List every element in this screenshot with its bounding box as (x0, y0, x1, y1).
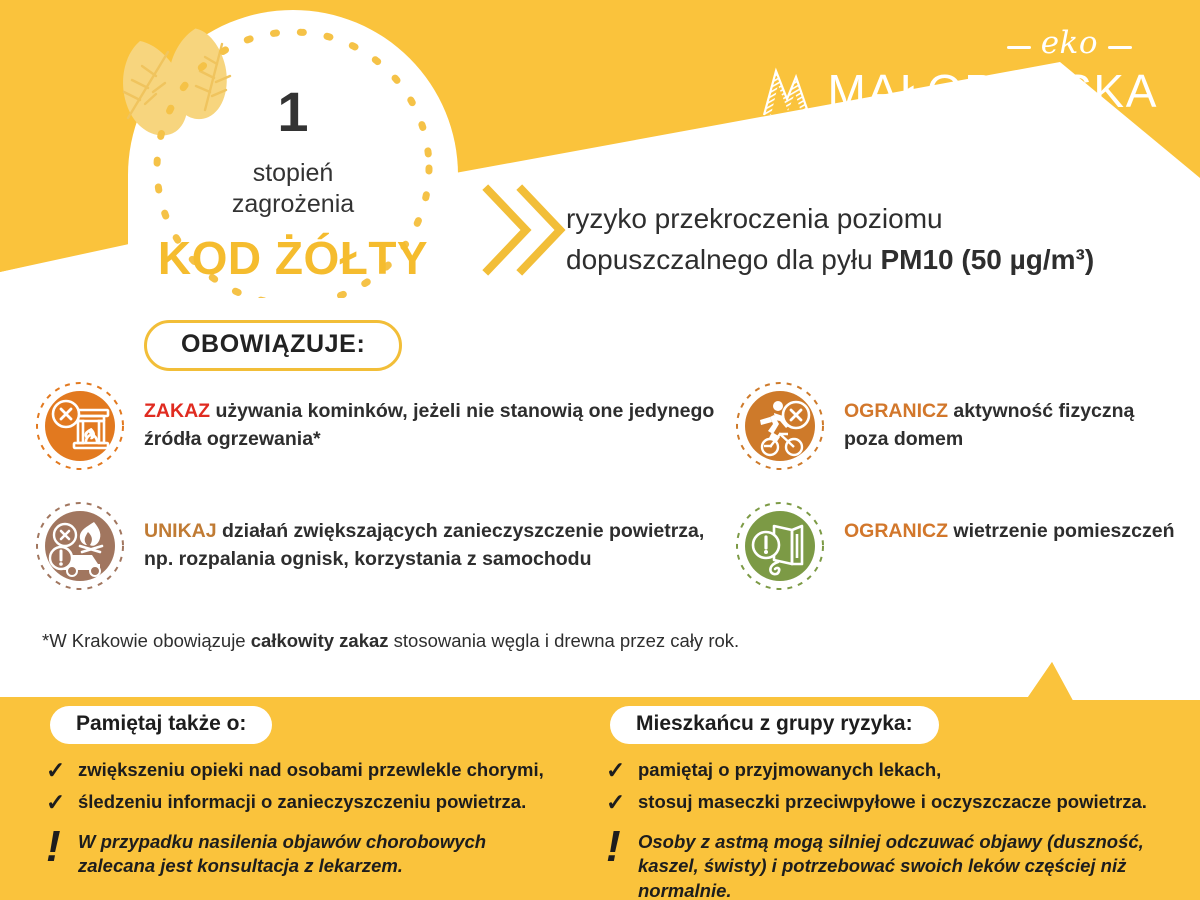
danger-level-badge: 1 stopień zagrożenia KOD ŻÓŁTY (133, 22, 453, 298)
advice-item-bonfire-car: UNIKAJ działań zwiększających zanieczysz… (36, 502, 736, 622)
panel-risk-group-title: Mieszkańcu z grupy ryzyka: (610, 706, 939, 744)
advice-grid: ZAKAZ używania kominków, jeżeli nie stan… (36, 382, 1176, 622)
advice-text-window: OGRANICZ wietrzenie pomieszczeń (844, 502, 1175, 546)
list-item: ✓ zwiększeniu opieki nad osobami przewle… (46, 758, 560, 783)
list-item-label: śledzeniu informacji o zanieczyszczeniu … (78, 790, 526, 813)
bonfire-car-warning-icon (36, 502, 124, 590)
advice-text-bonfire-car: UNIKAJ działań zwiększających zanieczysz… (144, 502, 736, 573)
exclamation-icon: ! (606, 830, 624, 864)
panel-remember-checks: ✓ zwiększeniu opieki nad osobami przewle… (46, 758, 560, 816)
advice-text-activity: OGRANICZ aktywność fizyczną poza domem (844, 382, 1176, 453)
open-window-warning-icon (736, 502, 824, 590)
advice-lead-bonfire-car: UNIKAJ (144, 520, 217, 542)
malopolska-mountains-mark-icon (760, 65, 816, 117)
fireplace-prohibited-icon (36, 382, 124, 470)
panel-remember-warning-label: W przypadku nasilenia objawów chorobowyc… (78, 830, 560, 880)
logo-brand-text: MAŁOPOLSKA (828, 68, 1158, 114)
advice-item-window: OGRANICZ wietrzenie pomieszczeń (736, 502, 1176, 622)
check-icon: ✓ (46, 758, 66, 783)
footnote-before: *W Krakowie obowiązuje (42, 630, 251, 651)
list-item: ✓ pamiętaj o przyjmowanych lekach, (606, 758, 1200, 783)
list-item-label: pamiętaj o przyjmowanych lekach, (638, 758, 941, 781)
advice-item-fireplace: ZAKAZ używania kominków, jeżeli nie stan… (36, 382, 736, 502)
obligations-pill: OBOWIĄZUJE: (144, 320, 402, 371)
infographic-poster: eko MAŁOPOLSKA 1 stopień zagrożenia KOD … (0, 0, 1200, 900)
double-chevron-right-icon (482, 182, 572, 278)
check-icon: ✓ (46, 790, 66, 815)
headline-line-1: ryzyko przekroczenia poziomu (566, 199, 1196, 240)
list-item-label: zwiększeniu opieki nad osobami przewlekl… (78, 758, 544, 781)
headline-text: ryzyko przekroczenia poziomu dopuszczaln… (566, 199, 1196, 281)
logo-wordmark-row: MAŁOPOLSKA (760, 65, 1158, 117)
panel-risk-group-checks: ✓ pamiętaj o przyjmowanych lekach, ✓ sto… (606, 758, 1200, 816)
check-icon: ✓ (606, 790, 626, 815)
brand-logo: eko MAŁOPOLSKA (760, 28, 1158, 117)
panel-risk-group-warning-label: Osoby z astmą mogą silniej odczuwać obja… (638, 830, 1200, 900)
advice-item-activity: OGRANICZ aktywność fizyczną poza domem (736, 382, 1176, 502)
panel-remember: Pamiętaj także o: ✓ zwiększeniu opieki n… (0, 706, 560, 900)
running-cyclist-prohibited-icon (736, 382, 824, 470)
panel-remember-title: Pamiętaj także o: (50, 706, 272, 744)
advice-body-bonfire-car: działań zwiększających zanieczyszczenie … (144, 520, 704, 570)
list-item: ✓ stosuj maseczki przeciwpyłowe i oczysz… (606, 790, 1200, 815)
panel-remember-warning: ! W przypadku nasilenia objawów chorobow… (46, 830, 560, 880)
headline-line-2-bold: PM10 (50 µg/m³) (880, 244, 1094, 275)
advice-text-fireplace: ZAKAZ używania kominków, jeżeli nie stan… (144, 382, 736, 453)
danger-level-subtitle-line1: stopień (133, 158, 453, 189)
advice-lead-window: OGRANICZ (844, 520, 948, 542)
advice-body-fireplace: używania kominków, jeżeli nie stanowią o… (144, 400, 714, 450)
advice-lead-fireplace: ZAKAZ (144, 400, 210, 422)
list-item: ✓ śledzeniu informacji o zanieczyszczeni… (46, 790, 560, 815)
advice-lead-activity: OGRANICZ (844, 400, 948, 422)
exclamation-icon: ! (46, 830, 64, 864)
check-icon: ✓ (606, 758, 626, 783)
advice-body-window: wietrzenie pomieszczeń (948, 520, 1175, 542)
footnote-bold: całkowity zakaz (251, 630, 389, 651)
danger-level-subtitle: stopień zagrożenia (133, 158, 453, 219)
list-item-label: stosuj maseczki przeciwpyłowe i oczyszcz… (638, 790, 1147, 813)
logo-eko-script: eko (1007, 28, 1132, 59)
code-color-label: KOD ŻÓŁTY (133, 235, 453, 281)
headline-line-2-plain: dopuszczalnego dla pyłu (566, 244, 880, 275)
bottom-panels: Pamiętaj także o: ✓ zwiększeniu opieki n… (0, 706, 1200, 900)
panel-risk-group-warning: ! Osoby z astmą mogą silniej odczuwać ob… (606, 830, 1200, 900)
footnote-after: stosowania węgla i drewna przez cały rok… (389, 630, 740, 651)
danger-level-number: 1 (133, 84, 453, 140)
danger-level-subtitle-line2: zagrożenia (133, 189, 453, 220)
headline-line-2: dopuszczalnego dla pyłu PM10 (50 µg/m³) (566, 240, 1196, 281)
footnote-text: *W Krakowie obowiązuje całkowity zakaz s… (42, 630, 739, 652)
panel-risk-group: Mieszkańcu z grupy ryzyka: ✓ pamiętaj o … (560, 706, 1200, 900)
